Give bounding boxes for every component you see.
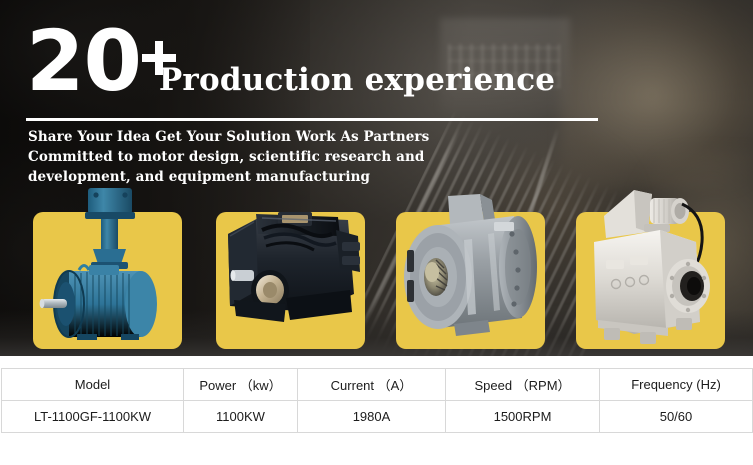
cell-current: 1980A [298,401,446,433]
product-card-3[interactable] [396,212,545,349]
headline-row: 20 Production experience [26,22,555,102]
table-header-row: Model Power （kw） Current （A） Speed （RPM）… [2,369,753,401]
cell-model: LT-1100GF-1100KW [2,401,184,433]
blue-electric-motor-icon [33,186,182,349]
tagline-line-2: Committed to motor design, scientific re… [28,147,448,187]
gray-induction-motor-icon [396,186,545,349]
tagline-line-1: Share Your Idea Get Your Solution Work A… [28,127,448,147]
cell-frequency: 50/60 [600,401,753,433]
column-header-speed: Speed （RPM） [446,369,600,401]
hero-section: 20 Production experience Share Your Idea… [0,0,753,356]
tagline-block: Share Your Idea Get Your Solution Work A… [28,127,448,187]
table-row: LT-1100GF-1100KW 1100KW 1980A 1500RPM 50… [2,401,753,433]
product-card-1[interactable] [33,212,182,349]
column-header-power: Power （kw） [184,369,298,401]
specification-table: Model Power （kw） Current （A） Speed （RPM）… [1,368,753,433]
column-header-current: Current （A） [298,369,446,401]
dark-diesel-engine-icon [216,186,365,349]
column-header-model: Model [2,369,184,401]
years-count: 20 [26,22,141,102]
column-header-frequency: Frequency (Hz) [600,369,753,401]
product-card-4[interactable] [576,212,725,349]
headline-title: Production experience [159,65,555,96]
spec-table-container: Model Power （kw） Current （A） Speed （RPM）… [0,368,753,433]
plus-icon [142,41,176,75]
product-card-2[interactable] [216,212,365,349]
white-explosion-proof-motor-icon [576,186,725,349]
cell-speed: 1500RPM [446,401,600,433]
headline-divider [26,118,598,121]
product-card-row [0,212,753,350]
cell-power: 1100KW [184,401,298,433]
promo-banner-page: 20 Production experience Share Your Idea… [0,0,753,465]
